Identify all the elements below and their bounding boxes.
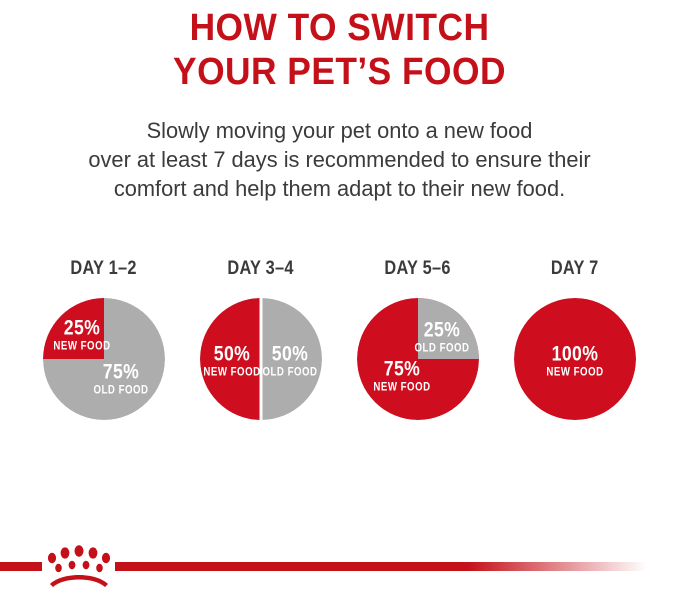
day-label-4: DAY 7 xyxy=(551,258,599,280)
pie-4-new-food-pct: 100% xyxy=(546,344,603,365)
pie-2-old-food-name: OLD FOOD xyxy=(263,368,318,380)
pie-1-old-food-pct: 75% xyxy=(94,361,149,382)
pie-3-slice-label-old-food: 25% OLD FOOD xyxy=(415,319,470,355)
day-label-3: DAY 5–6 xyxy=(385,258,451,280)
pie-2-old-food-pct: 50% xyxy=(263,344,318,365)
pie-1-new-food-pct: 25% xyxy=(53,317,110,338)
pie-2-slice-label-old-food: 50% OLD FOOD xyxy=(263,344,318,380)
page-title-line-1: HOW TO SWITCH xyxy=(24,6,655,50)
pie-chart-day-1-2: 25% NEW FOOD 75% OLD FOOD xyxy=(43,298,165,420)
pie-1-slice-label-new-food: 25% NEW FOOD xyxy=(53,317,110,353)
page-title-line-2: YOUR PET’S FOOD xyxy=(24,50,655,94)
pie-2-new-food-pct: 50% xyxy=(203,344,260,365)
footer-rule-left xyxy=(0,562,42,571)
intro-line-2: over at least 7 days is recommended to e… xyxy=(10,145,669,174)
pie-3-old-food-name: OLD FOOD xyxy=(415,343,470,355)
pie-3-slice-label-new-food: 75% NEW FOOD xyxy=(374,358,431,394)
pie-3-new-food-pct: 75% xyxy=(374,358,431,379)
intro-line-3: comfort and help them adapt to their new… xyxy=(10,174,669,203)
pie-chart-day-5-6: 25% OLD FOOD 75% NEW FOOD xyxy=(357,298,479,420)
pie-1-new-food-name: NEW FOOD xyxy=(53,341,110,353)
pie-chart-row: DAY 1–2 25% NEW FOOD 75% OLD FOOD DAY 3–… xyxy=(0,258,679,420)
pie-cell-day-3-4: DAY 3–4 50% NEW FOOD 50% OLD FOOD xyxy=(183,258,340,420)
day-label-1: DAY 1–2 xyxy=(71,258,137,280)
pie-3-new-food-name: NEW FOOD xyxy=(374,382,431,394)
intro-line-1: Slowly moving your pet onto a new food xyxy=(10,116,669,145)
pie-4-new-food-name: NEW FOOD xyxy=(546,368,603,380)
pie-2-slice-label-new-food: 50% NEW FOOD xyxy=(203,344,260,380)
intro-paragraph: Slowly moving your pet onto a new food o… xyxy=(10,116,669,203)
royal-canin-crown-icon xyxy=(44,544,114,588)
footer xyxy=(0,540,679,594)
pie-3-old-food-pct: 25% xyxy=(415,319,470,340)
pie-cell-day-1-2: DAY 1–2 25% NEW FOOD 75% OLD FOOD xyxy=(26,258,183,420)
pie-cell-day-5-6: DAY 5–6 25% OLD FOOD 75% NEW FOOD xyxy=(340,258,497,420)
pie-1-slice-label-old-food: 75% OLD FOOD xyxy=(94,361,149,397)
pie-4-slice-label-new-food: 100% NEW FOOD xyxy=(546,344,603,380)
pie-1-old-food-name: OLD FOOD xyxy=(94,385,149,397)
pie-chart-day-3-4: 50% NEW FOOD 50% OLD FOOD xyxy=(200,298,322,420)
pie-cell-day-7: DAY 7 100% NEW FOOD xyxy=(497,258,654,420)
footer-rule-right xyxy=(115,562,675,571)
page-title: HOW TO SWITCH YOUR PET’S FOOD xyxy=(24,0,655,94)
pie-chart-day-7: 100% NEW FOOD xyxy=(514,298,636,420)
day-label-2: DAY 3–4 xyxy=(228,258,294,280)
pie-2-new-food-name: NEW FOOD xyxy=(203,368,260,380)
